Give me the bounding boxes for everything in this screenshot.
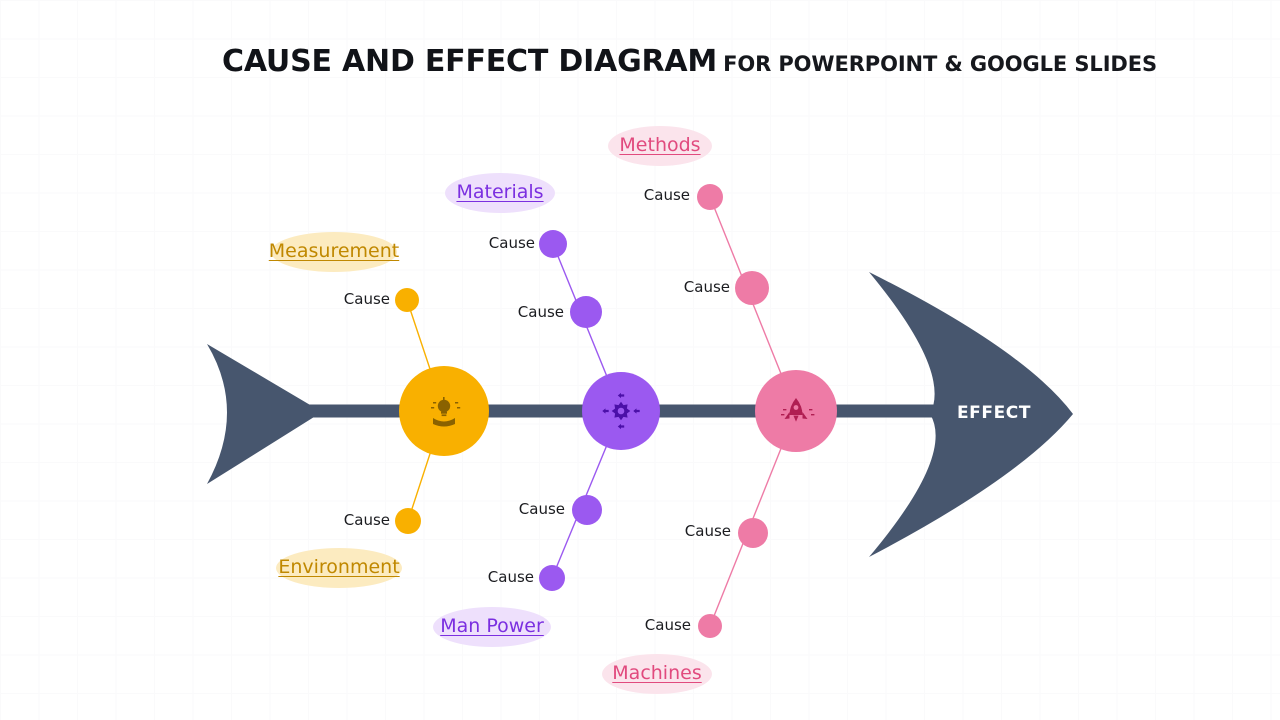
category-label-materials[interactable]: Materials: [456, 181, 543, 203]
category-label-measurement[interactable]: Measurement: [269, 240, 399, 262]
cause-machines-1-label: Cause: [685, 522, 731, 540]
cause-methods-1-label: Cause: [644, 186, 690, 204]
cause-measurement-1[interactable]: [395, 288, 419, 312]
cause-machines-1[interactable]: [738, 518, 768, 548]
cause-methods-2[interactable]: [735, 271, 769, 305]
category-label-man-power[interactable]: Man Power: [440, 615, 544, 637]
cause-materials-2-label: Cause: [518, 303, 564, 321]
cause-materials-1-label: Cause: [489, 234, 535, 252]
cause-environment-1[interactable]: [395, 508, 421, 534]
fishbone-svg: [0, 0, 1280, 720]
cause-machines-2-label: Cause: [645, 616, 691, 634]
diagram-canvas: CAUSE AND EFFECT DIAGRAMFOR POWERPOINT &…: [0, 0, 1280, 720]
cause-manpower-1[interactable]: [572, 495, 602, 525]
cause-methods-2-label: Cause: [684, 278, 730, 296]
effect-label: EFFECT: [957, 403, 1031, 423]
cause-manpower-2-label: Cause: [488, 568, 534, 586]
cause-materials-1[interactable]: [539, 230, 567, 258]
category-label-methods[interactable]: Methods: [619, 134, 700, 156]
cause-materials-2[interactable]: [570, 296, 602, 328]
hub-circles-group[interactable]: [399, 366, 837, 456]
cause-machines-2[interactable]: [698, 614, 722, 638]
cause-measurement-1-label: Cause: [344, 290, 390, 308]
cause-manpower-2[interactable]: [539, 565, 565, 591]
cause-environment-1-label: Cause: [344, 511, 390, 529]
cause-manpower-1-label: Cause: [519, 500, 565, 518]
category-label-machines[interactable]: Machines: [612, 662, 701, 684]
category-label-environment[interactable]: Environment: [278, 556, 399, 578]
cause-methods-1[interactable]: [697, 184, 723, 210]
